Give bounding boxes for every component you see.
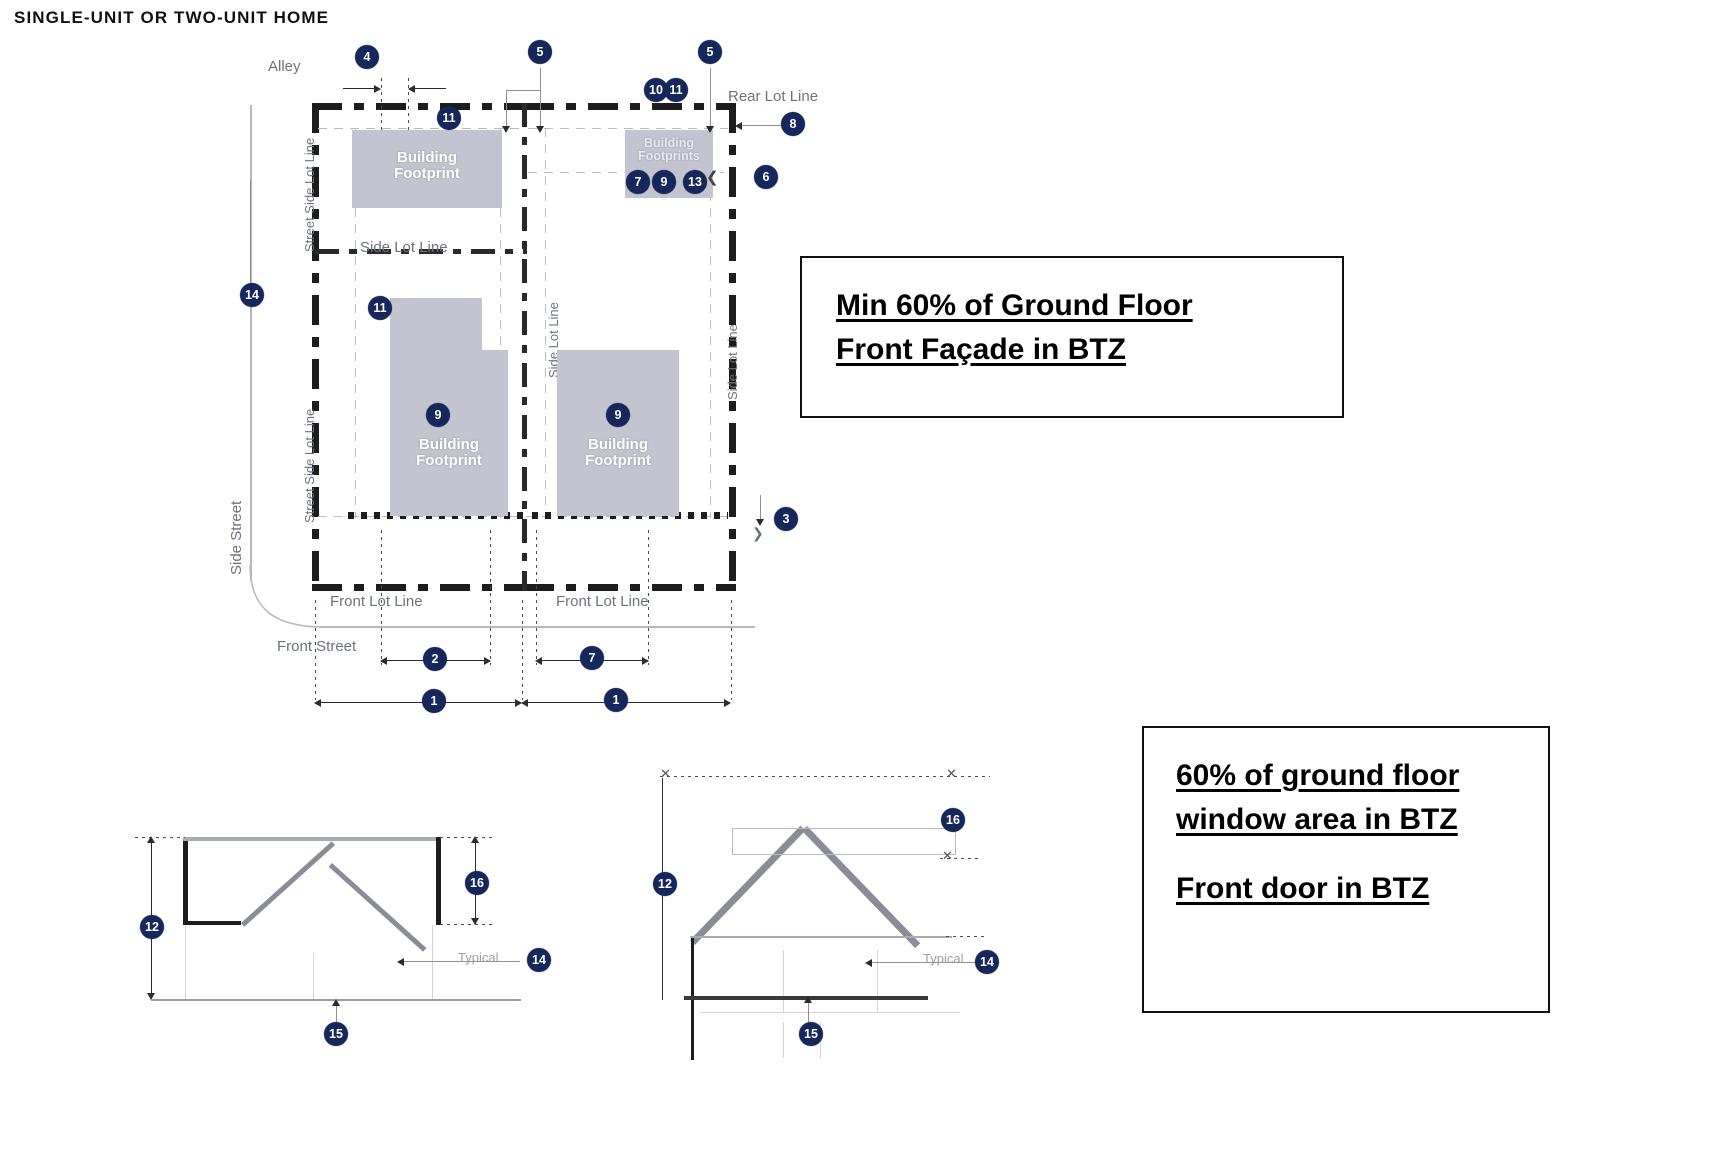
label-street-side-lot-line-lower: Street Side Lot Line bbox=[302, 409, 317, 523]
callout-bubble-14: 14 bbox=[240, 283, 264, 307]
footprint-label-line2: Footprint bbox=[585, 452, 651, 469]
dim7-tick-right bbox=[648, 530, 649, 665]
callout-bubble-9: 9 bbox=[426, 403, 450, 427]
callout3-leader bbox=[760, 495, 761, 521]
elev-left-dim12-ext bbox=[135, 837, 185, 838]
callout-bubble-7: 7 bbox=[626, 170, 650, 194]
callout-bubble-5: 5 bbox=[698, 40, 722, 64]
dim1-arrow-left-a bbox=[314, 699, 321, 707]
footprint-label-line1: Building bbox=[419, 436, 479, 453]
elev-left-typical-arrow bbox=[397, 958, 404, 966]
elev-right-top-ref bbox=[660, 776, 990, 777]
dim2-tick-left bbox=[381, 530, 382, 665]
note-btz-window-door: 60% of ground floor window area in BTZ F… bbox=[1142, 726, 1550, 1013]
elev-roof-right-slope bbox=[329, 863, 427, 952]
footprint-rear-right-label: Building Footprints bbox=[625, 137, 713, 163]
elevation-left: Typical bbox=[120, 800, 580, 1060]
label-front-lot-line-left: Front Lot Line bbox=[330, 593, 423, 610]
elev-right-wall bbox=[436, 837, 441, 925]
dim7-arrow-right bbox=[642, 657, 649, 665]
footprint-label-line1: Building bbox=[397, 149, 457, 166]
callout-bubble-14: 14 bbox=[975, 950, 999, 974]
note-line: Front Façade in BTZ bbox=[836, 328, 1342, 372]
callout-bubble-1: 1 bbox=[422, 689, 446, 713]
label-side-lot-line-vertical-right: Side Lot Line bbox=[725, 324, 740, 400]
dim2-tick-right bbox=[490, 530, 491, 665]
callout5-arrow-right bbox=[706, 126, 714, 133]
front-street-line bbox=[320, 626, 755, 628]
dim1-arrow-right-b bbox=[724, 699, 731, 707]
callout3-tick: ❯ bbox=[752, 525, 764, 542]
elev-left-tick-b bbox=[313, 953, 314, 1000]
note-line: Front door in BTZ bbox=[1176, 867, 1548, 911]
callout5-arrow-elbow bbox=[502, 126, 510, 133]
dim2-arrow-right bbox=[484, 657, 491, 665]
footprint-label-line1: Building bbox=[644, 136, 694, 150]
callout-bubble-9: 9 bbox=[606, 403, 630, 427]
callout-bubble-4: 4 bbox=[355, 45, 379, 69]
elev-roof-left-slope bbox=[241, 841, 335, 926]
callout-bubble-11: 11 bbox=[437, 106, 461, 130]
rear-setback-guide-left bbox=[318, 128, 526, 129]
footprint-label-line2: Footprints bbox=[638, 149, 700, 163]
elev-right-wall-line-b bbox=[877, 950, 878, 1012]
elev-right-eave-line bbox=[690, 936, 952, 938]
dim7-arrow-left bbox=[535, 657, 542, 665]
callout-bubble-8: 8 bbox=[781, 112, 805, 136]
callout-bubble-16: 16 bbox=[941, 808, 965, 832]
callout-bubble-3: 3 bbox=[774, 507, 798, 531]
front-lot-line-boundary-left bbox=[312, 584, 527, 591]
elev-left-ground-arrow bbox=[332, 999, 340, 1006]
elev-left-dim16-ext-top bbox=[440, 837, 492, 838]
callout14-leader bbox=[250, 180, 251, 290]
elev-left-typical-label: Typical bbox=[458, 950, 498, 965]
callout8-arrow bbox=[735, 122, 742, 130]
side-street-line bbox=[250, 105, 252, 580]
dim1-line-left bbox=[317, 702, 521, 703]
elev-bottom-stub bbox=[183, 921, 241, 925]
dim4-tick-left bbox=[381, 78, 382, 133]
footprint-label-line2: Footprint bbox=[416, 452, 482, 469]
callout5-arrow-left bbox=[536, 126, 544, 133]
dim7-tick-left bbox=[536, 530, 537, 665]
callout5-leader-elbow bbox=[506, 90, 540, 91]
footprint-rear-left-label: Building Footprint bbox=[352, 150, 502, 182]
footprint-front-right bbox=[557, 350, 679, 516]
elev-left-tick-a bbox=[185, 925, 186, 1000]
callout5-leader-right bbox=[710, 68, 711, 130]
dim4-arrow-right bbox=[408, 85, 415, 93]
callout-bubble-11: 11 bbox=[664, 78, 688, 102]
dim2-arrow-left bbox=[380, 657, 387, 665]
callout-bubble-7: 7 bbox=[580, 646, 604, 670]
dim1-arrow-right-a bbox=[521, 699, 528, 707]
rear-setback-guide-right bbox=[528, 128, 728, 129]
label-alley: Alley bbox=[268, 58, 301, 75]
elev-right-top-tick-right: ✕ bbox=[946, 766, 957, 782]
callout-bubble-5: 5 bbox=[528, 40, 552, 64]
note-btz-facade: Min 60% of Ground Floor Front Façade in … bbox=[800, 256, 1344, 418]
label-front-lot-line-right: Front Lot Line bbox=[556, 593, 649, 610]
note-line: 60% of ground floor bbox=[1176, 754, 1548, 798]
lot-tick-mid bbox=[522, 600, 523, 700]
label-front-street: Front Street bbox=[277, 638, 356, 655]
footprint-label-line1: Building bbox=[588, 436, 648, 453]
elev-right-typical-arrow bbox=[865, 959, 872, 967]
inner-right-setback-guide bbox=[545, 128, 546, 518]
label-side-lot-line-horizontal: Side Lot Line bbox=[360, 239, 448, 256]
elev-right-eave-ext bbox=[946, 936, 988, 937]
note-line: window area in BTZ bbox=[1176, 798, 1548, 842]
elev-right-ground-arrow bbox=[804, 996, 812, 1003]
callout-bubble-12: 12 bbox=[653, 872, 677, 896]
label-side-street: Side Street bbox=[228, 501, 245, 575]
elev-left-top bbox=[183, 837, 441, 841]
callout-bubble-13: 13 bbox=[683, 170, 707, 194]
elev-right-dim16-tick: ✕ bbox=[942, 848, 953, 864]
elev-right-wall-line-c bbox=[783, 1022, 784, 1058]
elev-right-wall-line-a bbox=[783, 950, 784, 1012]
front-lot-line-boundary-right bbox=[524, 584, 736, 591]
dim4-arrow-left bbox=[374, 85, 381, 93]
callout-bubble-15: 15 bbox=[799, 1022, 823, 1046]
callout-bubble-14: 14 bbox=[527, 948, 551, 972]
footprint-front-left-label: Building Footprint bbox=[382, 437, 516, 469]
callout-bubble-9: 9 bbox=[652, 170, 676, 194]
lot-tick-right bbox=[731, 600, 732, 700]
callout5-leader-left bbox=[540, 68, 541, 130]
callout-bubble-11: 11 bbox=[368, 296, 392, 320]
footprint-front-right-label: Building Footprint bbox=[551, 437, 685, 469]
callout-bubble-16: 16 bbox=[465, 871, 489, 895]
footprint-front-left-lower bbox=[390, 350, 508, 516]
callout-bubble-6: 6 bbox=[754, 165, 778, 189]
callout-bubble-15: 15 bbox=[324, 1022, 348, 1046]
callout-bubble-2: 2 bbox=[423, 647, 447, 671]
elev-right-typical-label: Typical bbox=[923, 951, 963, 966]
elev-right-floor-line bbox=[700, 1012, 960, 1013]
footprint-label-line2: Footprint bbox=[394, 165, 460, 182]
callout6-tick: ❮ bbox=[706, 168, 719, 186]
elev-left-dim16-ext-bot bbox=[440, 924, 492, 925]
callout5-leader-elbow-v bbox=[506, 90, 507, 130]
elev-right-ground-leader bbox=[808, 1000, 809, 1022]
callout8-leader bbox=[738, 125, 786, 126]
callout-bubble-1: 1 bbox=[604, 688, 628, 712]
elev-left-wall bbox=[183, 837, 188, 925]
site-plan-diagram: Alley Side Street Front Street Rear Lot … bbox=[0, 0, 860, 740]
elevation-right: ✕ ✕ ✕ Typical bbox=[640, 760, 1040, 1060]
dim4-line-right bbox=[410, 88, 446, 89]
label-street-side-lot-line-upper: Street Side Lot Line bbox=[302, 138, 317, 252]
rear-lot-line-left bbox=[312, 103, 527, 110]
note-line: Min 60% of Ground Floor bbox=[836, 284, 1342, 328]
elev-left-tick-c bbox=[432, 925, 433, 1000]
rear-lot-line-right bbox=[524, 103, 736, 110]
elev-right-window-band bbox=[732, 828, 956, 855]
lot-tick-left bbox=[315, 600, 316, 700]
callout-bubble-12: 12 bbox=[140, 915, 164, 939]
label-rear-lot-line: Rear Lot Line bbox=[728, 88, 818, 105]
